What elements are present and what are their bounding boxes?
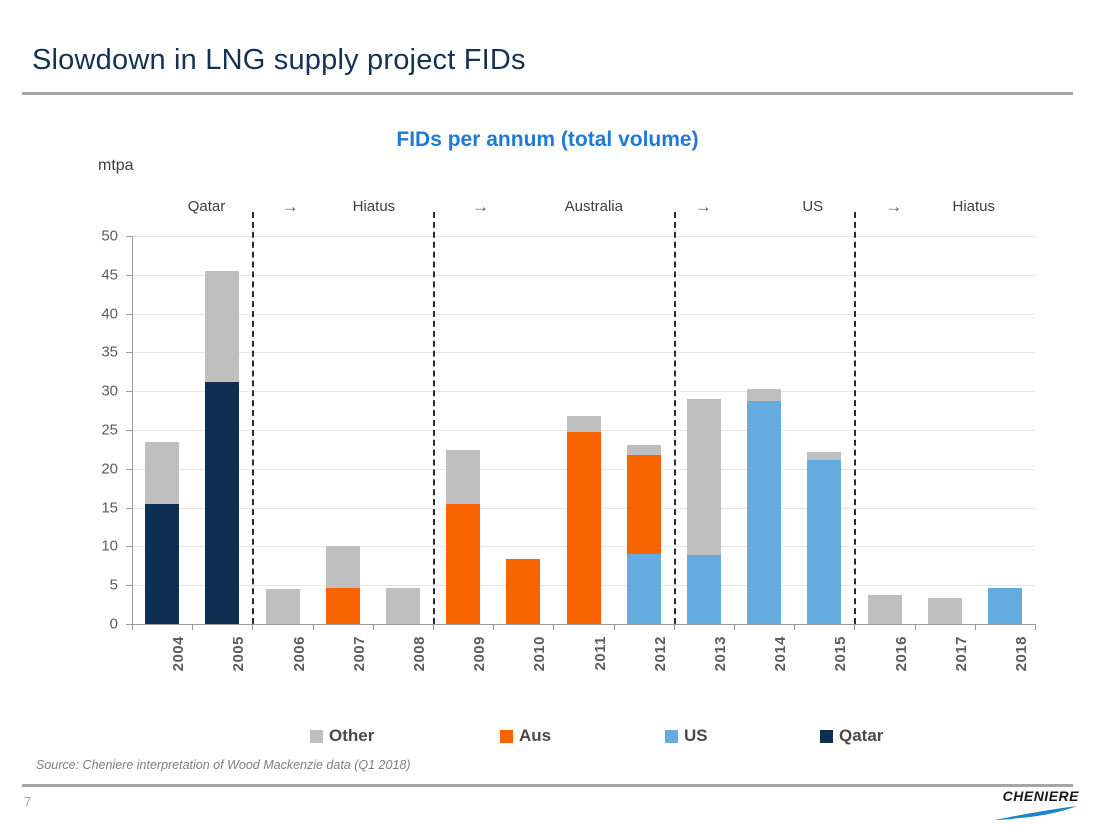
bar-column-2006[interactable] — [266, 589, 300, 624]
bar-segment-2009-aus[interactable] — [446, 504, 480, 624]
legend-label-us: US — [684, 726, 708, 746]
bar-segment-2007-other[interactable] — [326, 546, 360, 587]
x-axis-label-2016: 2016 — [893, 636, 910, 671]
bar-column-2005[interactable] — [205, 271, 239, 624]
footer-divider-rule — [22, 784, 1073, 787]
y-tick-label-50: 50 — [84, 228, 118, 245]
bar-segment-2005-other[interactable] — [205, 271, 239, 382]
y-axis-labels: 05101520253035404550 — [84, 0, 118, 825]
y-tick-label-35: 35 — [84, 344, 118, 361]
bar-segment-2005-qatar[interactable] — [205, 382, 239, 624]
y-tick-label-45: 45 — [84, 266, 118, 283]
legend-swatch-other — [310, 730, 323, 743]
bar-segment-2006-other[interactable] — [266, 589, 300, 624]
bar-column-2009[interactable] — [446, 450, 480, 624]
legend-swatch-qatar — [820, 730, 833, 743]
y-tick-label-20: 20 — [84, 460, 118, 477]
page-number: 7 — [24, 794, 31, 809]
y-tick-mark-5 — [126, 585, 132, 586]
x-tick-mark-1 — [192, 624, 193, 630]
y-tick-label-0: 0 — [84, 616, 118, 633]
bar-segment-2011-aus[interactable] — [567, 432, 601, 624]
gridline-45 — [132, 275, 1035, 276]
x-tick-mark-8 — [614, 624, 615, 630]
cheniere-logo: CHENIERE — [975, 788, 1081, 822]
y-tick-label-30: 30 — [84, 383, 118, 400]
bar-segment-2013-other[interactable] — [687, 399, 721, 555]
y-tick-mark-25 — [126, 430, 132, 431]
x-axis-label-2014: 2014 — [772, 636, 789, 671]
legend-item-us[interactable]: US — [665, 726, 708, 746]
x-axis-label-2010: 2010 — [531, 636, 548, 671]
bar-segment-2004-qatar[interactable] — [145, 504, 179, 624]
logo-swoosh-icon — [993, 805, 1079, 821]
x-tick-mark-0 — [132, 624, 133, 630]
bar-column-2016[interactable] — [868, 595, 902, 624]
bar-column-2013[interactable] — [687, 399, 721, 624]
bar-segment-2007-aus[interactable] — [326, 588, 360, 624]
x-tick-mark-15 — [1035, 624, 1036, 630]
bar-segment-2008-other[interactable] — [386, 588, 420, 624]
x-axis-label-2009: 2009 — [471, 636, 488, 671]
bar-segment-2010-aus[interactable] — [506, 559, 540, 624]
chart-legend: OtherAusUSQatar — [310, 726, 910, 750]
bar-segment-2015-us[interactable] — [807, 460, 841, 624]
x-axis-label-2005: 2005 — [230, 636, 247, 671]
y-tick-mark-30 — [126, 391, 132, 392]
x-tick-mark-13 — [915, 624, 916, 630]
legend-item-aus[interactable]: Aus — [500, 726, 551, 746]
bar-segment-2004-other[interactable] — [145, 442, 179, 503]
bar-segment-2012-aus[interactable] — [627, 455, 661, 554]
x-tick-mark-10 — [734, 624, 735, 630]
x-tick-mark-5 — [433, 624, 434, 630]
phase-divider-1 — [433, 212, 435, 624]
gridline-35 — [132, 352, 1035, 353]
x-axis-label-2013: 2013 — [712, 636, 729, 671]
bar-segment-2012-other[interactable] — [627, 445, 661, 455]
x-axis-label-2008: 2008 — [411, 636, 428, 671]
gridline-50 — [132, 236, 1035, 237]
bar-column-2010[interactable] — [506, 559, 540, 624]
x-axis-label-2007: 2007 — [351, 636, 368, 671]
legend-swatch-us — [665, 730, 678, 743]
phase-divider-3 — [854, 212, 856, 624]
y-tick-mark-40 — [126, 314, 132, 315]
bar-column-2007[interactable] — [326, 546, 360, 624]
gridline-40 — [132, 314, 1035, 315]
bar-segment-2018-us[interactable] — [988, 588, 1022, 624]
y-axis-line — [132, 236, 133, 625]
bar-segment-2014-other[interactable] — [747, 389, 781, 401]
y-tick-label-25: 25 — [84, 422, 118, 439]
bar-segment-2015-other[interactable] — [807, 452, 841, 461]
x-tick-mark-9 — [674, 624, 675, 630]
x-axis-label-2018: 2018 — [1013, 636, 1030, 671]
legend-item-qatar[interactable]: Qatar — [820, 726, 883, 746]
legend-swatch-aus — [500, 730, 513, 743]
x-tick-mark-14 — [975, 624, 976, 630]
y-tick-label-15: 15 — [84, 499, 118, 516]
bar-column-2004[interactable] — [145, 442, 179, 624]
x-tick-mark-2 — [252, 624, 253, 630]
x-axis-label-2004: 2004 — [170, 636, 187, 671]
bar-column-2011[interactable] — [567, 416, 601, 624]
legend-label-other: Other — [329, 726, 374, 746]
chart-plot-area: 05101520253035404550 2004200520062007200… — [0, 0, 1095, 825]
source-note: Source: Cheniere interpretation of Wood … — [36, 758, 411, 772]
logo-wordmark: CHENIERE — [1003, 788, 1079, 804]
x-axis-label-2017: 2017 — [953, 636, 970, 671]
bar-segment-2009-other[interactable] — [446, 450, 480, 504]
y-tick-mark-10 — [126, 546, 132, 547]
x-tick-mark-7 — [553, 624, 554, 630]
bar-segment-2014-us[interactable] — [747, 401, 781, 624]
bar-segment-2012-us[interactable] — [627, 554, 661, 624]
y-tick-label-5: 5 — [84, 577, 118, 594]
legend-item-other[interactable]: Other — [310, 726, 374, 746]
legend-label-aus: Aus — [519, 726, 551, 746]
x-axis-label-2012: 2012 — [652, 636, 669, 671]
phase-divider-0 — [252, 212, 254, 624]
y-tick-label-10: 10 — [84, 538, 118, 555]
bar-column-2015[interactable] — [807, 452, 841, 624]
bar-segment-2011-other[interactable] — [567, 416, 601, 432]
phase-divider-2 — [674, 212, 676, 624]
bars-container — [132, 236, 1035, 624]
y-tick-mark-45 — [126, 275, 132, 276]
y-tick-mark-35 — [126, 352, 132, 353]
bar-column-2018[interactable] — [988, 588, 1022, 624]
bar-segment-2017-other[interactable] — [928, 598, 962, 624]
x-axis-label-2015: 2015 — [832, 636, 849, 671]
bar-column-2014[interactable] — [747, 389, 781, 624]
gridline-30 — [132, 391, 1035, 392]
x-axis-label-2006: 2006 — [291, 636, 308, 671]
bar-segment-2016-other[interactable] — [868, 595, 902, 624]
legend-label-qatar: Qatar — [839, 726, 883, 746]
x-axis-line — [132, 624, 1035, 625]
x-axis-label-2011: 2011 — [592, 636, 609, 671]
x-tick-mark-11 — [794, 624, 795, 630]
y-tick-mark-15 — [126, 508, 132, 509]
x-tick-mark-6 — [493, 624, 494, 630]
y-tick-label-40: 40 — [84, 305, 118, 322]
x-tick-mark-12 — [854, 624, 855, 630]
bar-column-2012[interactable] — [627, 445, 661, 624]
bar-segment-2013-us[interactable] — [687, 555, 721, 624]
y-tick-mark-50 — [126, 236, 132, 237]
x-tick-mark-4 — [373, 624, 374, 630]
bar-column-2008[interactable] — [386, 588, 420, 624]
x-tick-mark-3 — [313, 624, 314, 630]
y-tick-mark-20 — [126, 469, 132, 470]
bar-column-2017[interactable] — [928, 598, 962, 624]
